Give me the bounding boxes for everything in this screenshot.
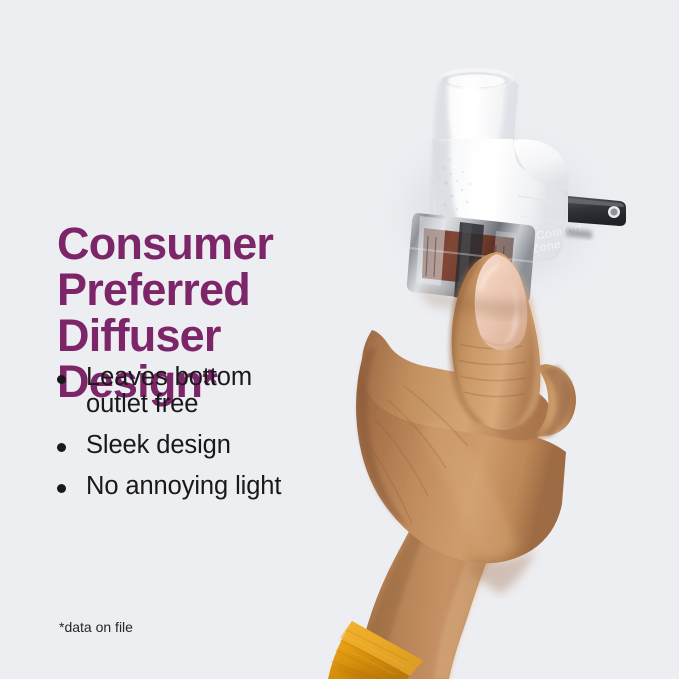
product-marketing-image: Comfort Zone Comfort Zone bbox=[0, 0, 679, 679]
bullet-dot-icon bbox=[57, 484, 66, 493]
bullet-dot-icon bbox=[57, 375, 66, 384]
bullet-dot-icon bbox=[57, 443, 66, 452]
list-item-label: Sleek design bbox=[86, 432, 231, 459]
footnote-disclaimer: *data on file bbox=[59, 619, 133, 635]
list-item: Sleek design bbox=[57, 432, 377, 459]
list-item: Leaves bottom outlet free bbox=[57, 364, 377, 418]
list-item-label: No annoying light bbox=[86, 473, 281, 500]
list-item: No annoying light bbox=[57, 473, 377, 500]
list-item-label: Leaves bottom outlet free bbox=[86, 364, 252, 418]
feature-bullet-list: Leaves bottom outlet free Sleek design N… bbox=[57, 364, 377, 500]
